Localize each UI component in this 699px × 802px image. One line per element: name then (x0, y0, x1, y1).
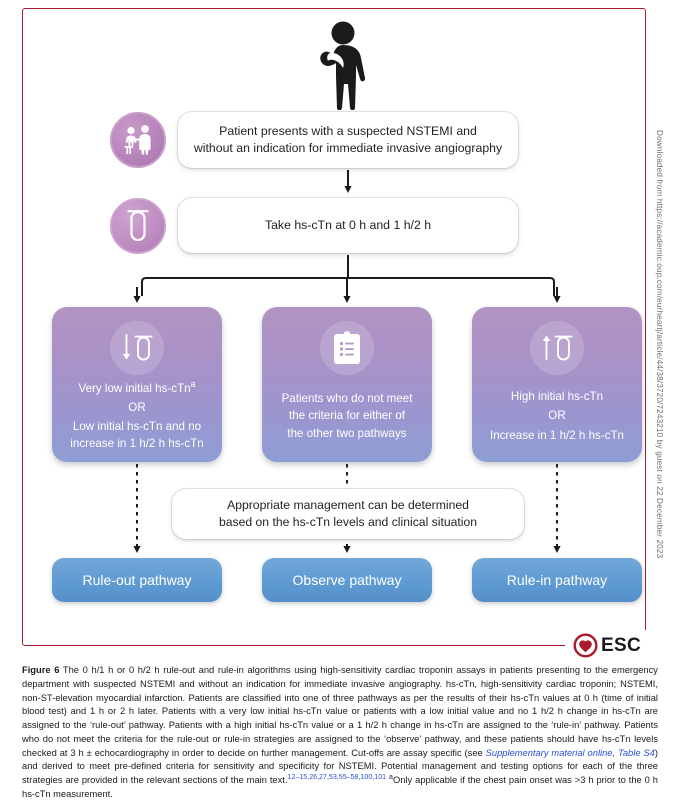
caption-supplementary-link[interactable]: Supplementary material online, Table S4 (486, 748, 655, 758)
caption-figure-label: Figure 6 (22, 665, 59, 675)
rule-out-line-4: increase in 1 h/2 h hs-cTn (70, 435, 203, 452)
blood-test-tube-icon (110, 198, 166, 254)
sampling-line-1: Take hs-cTn at 0 h and 1 h/2 h (265, 218, 431, 232)
outcome-label-observe: Observe pathway (293, 572, 402, 588)
observe-line-1: Patients who do not meet (282, 390, 413, 407)
caption-references[interactable]: 12–15,26,27,53,55–58,100,101 (288, 773, 387, 781)
pathway-box-rule-in: High initial hs-cTn OR Increase in 1 h/2… (472, 307, 642, 462)
presentation-line-1: Patient presents with a suspected NSTEMI… (219, 124, 477, 138)
observe-line-3: the criteria for either of (282, 407, 413, 424)
step-sampling-box: Take hs-cTn at 0 h and 1 h/2 h (178, 198, 518, 253)
down-arrow-test-tube-icon (110, 321, 164, 375)
pathway-box-observe: Patients who do not meet the criteria fo… (262, 307, 432, 462)
outcome-observe-pathway: Observe pathway (262, 558, 432, 602)
clipboard-checklist-icon (320, 321, 374, 375)
rule-in-line-3: Increase in 1 h/2 h hs-cTn (490, 427, 624, 444)
outcome-label-rule-in: Rule-in pathway (507, 572, 607, 588)
esc-logo-text: ESC (601, 636, 641, 655)
up-arrow-test-tube-icon (530, 321, 584, 375)
management-box: Appropriate management can be determined… (172, 489, 524, 539)
step-presentation-box: Patient presents with a suspected NSTEMI… (178, 112, 518, 168)
esc-logo: ESC (565, 630, 649, 660)
outcome-label-rule-out: Rule-out pathway (83, 572, 192, 588)
pathway-text-observe: Patients who do not meet the criteria fo… (282, 380, 413, 452)
outcome-rule-in-pathway: Rule-in pathway (472, 558, 642, 602)
esc-heart-icon (573, 633, 598, 658)
download-watermark: Downloaded from https://academic.oup.com… (655, 130, 664, 650)
rule-out-line-3: Low initial hs-cTn and no (70, 418, 203, 435)
rule-in-or: OR (490, 407, 624, 424)
management-line-2: based on the hs-cTn levels and clinical … (219, 515, 477, 529)
caption-part-1: The 0 h/1 h or 0 h/2 h rule-out and rule… (22, 665, 658, 758)
clinician-examining-patient-icon (110, 112, 166, 168)
rule-in-line-1: High initial hs-cTn (490, 388, 624, 405)
pathway-text-rule-out: Very low initial hs-cTna OR Low initial … (70, 380, 203, 453)
pathway-text-rule-in: High initial hs-cTn OR Increase in 1 h/2… (490, 380, 624, 452)
figure-caption: Figure 6 The 0 h/1 h or 0 h/2 h rule-out… (22, 664, 658, 802)
observe-line-4: the other two pathways (282, 425, 413, 442)
management-line-1: Appropriate management can be determined (227, 498, 469, 512)
outcome-rule-out-pathway: Rule-out pathway (52, 558, 222, 602)
rule-out-or: OR (70, 399, 203, 416)
pathway-box-rule-out: Very low initial hs-cTna OR Low initial … (52, 307, 222, 462)
presentation-line-2: without an indication for immediate inva… (194, 141, 502, 155)
rule-out-footnote-marker: a (191, 379, 196, 389)
rule-out-line-1: Very low initial hs-cTn (78, 382, 190, 395)
caption-link-text: Supplementary material online, Table S4 (486, 748, 655, 758)
patient-chest-pain-icon (303, 18, 377, 110)
